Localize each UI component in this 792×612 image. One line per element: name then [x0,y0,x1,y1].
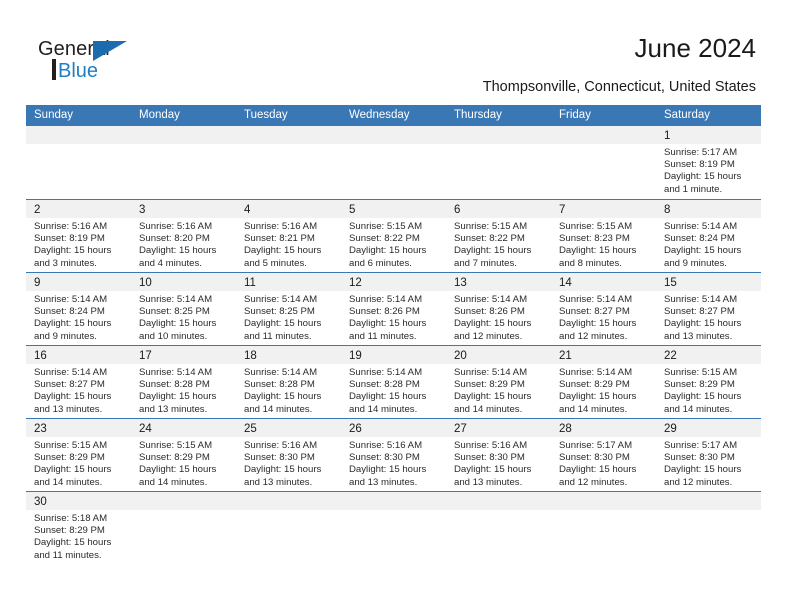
calendar-day-cell-empty [551,126,656,199]
sunset-text: Sunset: 8:30 PM [664,452,755,464]
day-number-band: 26 [341,419,446,437]
day-number: 5 [349,204,355,216]
day-number: 29 [664,423,677,435]
calendar-day-cell[interactable]: 22Sunrise: 5:15 AMSunset: 8:29 PMDayligh… [656,346,761,418]
day-sun-info: Sunrise: 5:15 AMSunset: 8:22 PMDaylight:… [446,218,551,270]
sunrise-text: Sunrise: 5:16 AM [349,440,440,452]
sunset-text: Sunset: 8:29 PM [454,379,545,391]
calendar-day-cell[interactable]: 8Sunrise: 5:14 AMSunset: 8:24 PMDaylight… [656,200,761,272]
day-sun-info: Sunrise: 5:15 AMSunset: 8:23 PMDaylight:… [551,218,656,270]
daylight-text: Daylight: 15 hours and 10 minutes. [139,318,230,342]
sunset-text: Sunset: 8:25 PM [139,306,230,318]
daylight-text: Daylight: 15 hours and 12 minutes. [454,318,545,342]
day-sun-info: Sunrise: 5:14 AMSunset: 8:28 PMDaylight:… [131,364,236,416]
day-sun-info: Sunrise: 5:14 AMSunset: 8:25 PMDaylight:… [131,291,236,343]
day-number-band [341,126,446,144]
calendar-day-cell-empty [656,492,761,564]
daylight-text: Daylight: 15 hours and 12 minutes. [664,464,755,488]
day-number-band: 14 [551,273,656,291]
day-number-band [341,492,446,510]
day-sun-info: Sunrise: 5:14 AMSunset: 8:27 PMDaylight:… [551,291,656,343]
day-number-band [236,492,341,510]
day-sun-info: Sunrise: 5:16 AMSunset: 8:21 PMDaylight:… [236,218,341,270]
day-number-band: 30 [26,492,131,510]
day-number: 17 [139,350,152,362]
daylight-text: Daylight: 15 hours and 13 minutes. [244,464,335,488]
sunrise-text: Sunrise: 5:14 AM [349,367,440,379]
sunrise-text: Sunrise: 5:14 AM [559,367,650,379]
day-number: 16 [34,350,47,362]
calendar-week-row: 1Sunrise: 5:17 AMSunset: 8:19 PMDaylight… [26,126,761,199]
day-number: 25 [244,423,257,435]
day-number-band: 29 [656,419,761,437]
calendar-day-cell-empty [551,492,656,564]
logo-triangle-icon [93,41,127,61]
sunset-text: Sunset: 8:30 PM [454,452,545,464]
day-number: 30 [34,496,47,508]
sunset-text: Sunset: 8:28 PM [349,379,440,391]
daylight-text: Daylight: 15 hours and 11 minutes. [244,318,335,342]
day-sun-info: Sunrise: 5:14 AMSunset: 8:27 PMDaylight:… [656,291,761,343]
day-number-band: 16 [26,346,131,364]
calendar-day-cell[interactable]: 2Sunrise: 5:16 AMSunset: 8:19 PMDaylight… [26,200,131,272]
calendar-day-cell[interactable]: 1Sunrise: 5:17 AMSunset: 8:19 PMDaylight… [656,126,761,199]
day-number-band: 6 [446,200,551,218]
calendar-day-cell[interactable]: 5Sunrise: 5:15 AMSunset: 8:22 PMDaylight… [341,200,446,272]
day-number-band [26,126,131,144]
sunset-text: Sunset: 8:27 PM [34,379,125,391]
day-number-band [551,126,656,144]
calendar-week-row: 23Sunrise: 5:15 AMSunset: 8:29 PMDayligh… [26,418,761,491]
day-number-band: 4 [236,200,341,218]
sunrise-text: Sunrise: 5:16 AM [454,440,545,452]
day-number: 22 [664,350,677,362]
daylight-text: Daylight: 15 hours and 14 minutes. [244,391,335,415]
calendar-week-row: 9Sunrise: 5:14 AMSunset: 8:24 PMDaylight… [26,272,761,345]
calendar-day-cell[interactable]: 17Sunrise: 5:14 AMSunset: 8:28 PMDayligh… [131,346,236,418]
day-number-band [656,492,761,510]
day-number: 26 [349,423,362,435]
weekday-header-monday: Monday [131,105,236,126]
sunset-text: Sunset: 8:29 PM [34,525,125,537]
day-number-band: 5 [341,200,446,218]
calendar-day-cell[interactable]: 28Sunrise: 5:17 AMSunset: 8:30 PMDayligh… [551,419,656,491]
day-number: 7 [559,204,565,216]
calendar-day-cell[interactable]: 9Sunrise: 5:14 AMSunset: 8:24 PMDaylight… [26,273,131,345]
day-number-band: 21 [551,346,656,364]
sunrise-text: Sunrise: 5:14 AM [454,367,545,379]
calendar-day-cell[interactable]: 4Sunrise: 5:16 AMSunset: 8:21 PMDaylight… [236,200,341,272]
weekday-header-row: SundayMondayTuesdayWednesdayThursdayFrid… [26,105,761,126]
calendar-day-cell[interactable]: 10Sunrise: 5:14 AMSunset: 8:25 PMDayligh… [131,273,236,345]
day-sun-info: Sunrise: 5:14 AMSunset: 8:26 PMDaylight:… [446,291,551,343]
day-sun-info: Sunrise: 5:17 AMSunset: 8:19 PMDaylight:… [656,144,761,196]
day-number-band: 19 [341,346,446,364]
daylight-text: Daylight: 15 hours and 1 minute. [664,171,755,195]
calendar-day-cell[interactable]: 12Sunrise: 5:14 AMSunset: 8:26 PMDayligh… [341,273,446,345]
sunset-text: Sunset: 8:29 PM [664,379,755,391]
sunset-text: Sunset: 8:29 PM [559,379,650,391]
sunset-text: Sunset: 8:19 PM [664,159,755,171]
calendar-day-cell[interactable]: 6Sunrise: 5:15 AMSunset: 8:22 PMDaylight… [446,200,551,272]
day-sun-info: Sunrise: 5:14 AMSunset: 8:24 PMDaylight:… [656,218,761,270]
calendar-day-cell[interactable]: 21Sunrise: 5:14 AMSunset: 8:29 PMDayligh… [551,346,656,418]
daylight-text: Daylight: 15 hours and 5 minutes. [244,245,335,269]
sunset-text: Sunset: 8:20 PM [139,233,230,245]
sunrise-text: Sunrise: 5:15 AM [664,367,755,379]
day-number: 3 [139,204,145,216]
weekday-header-thursday: Thursday [446,105,551,126]
day-number: 9 [34,277,40,289]
daylight-text: Daylight: 15 hours and 11 minutes. [349,318,440,342]
day-number-band: 22 [656,346,761,364]
day-number-band: 20 [446,346,551,364]
sunrise-text: Sunrise: 5:14 AM [34,294,125,306]
sunset-text: Sunset: 8:19 PM [34,233,125,245]
day-sun-info: Sunrise: 5:16 AMSunset: 8:30 PMDaylight:… [341,437,446,489]
page-header: General Blue June 2024 Thompsonville, Co… [0,0,792,100]
daylight-text: Daylight: 15 hours and 14 minutes. [454,391,545,415]
daylight-text: Daylight: 15 hours and 3 minutes. [34,245,125,269]
day-number: 23 [34,423,47,435]
calendar-page: General Blue June 2024 Thompsonville, Co… [0,0,792,612]
sunrise-text: Sunrise: 5:14 AM [559,294,650,306]
day-number: 2 [34,204,40,216]
day-number-band: 2 [26,200,131,218]
sunset-text: Sunset: 8:28 PM [139,379,230,391]
calendar-weeks: 1Sunrise: 5:17 AMSunset: 8:19 PMDaylight… [26,126,761,564]
daylight-text: Daylight: 15 hours and 14 minutes. [139,464,230,488]
day-number: 14 [559,277,572,289]
sunrise-text: Sunrise: 5:14 AM [664,294,755,306]
daylight-text: Daylight: 15 hours and 6 minutes. [349,245,440,269]
day-number: 12 [349,277,362,289]
day-number-band: 15 [656,273,761,291]
sunset-text: Sunset: 8:24 PM [664,233,755,245]
day-number-band: 25 [236,419,341,437]
day-number-band: 9 [26,273,131,291]
daylight-text: Daylight: 15 hours and 13 minutes. [454,464,545,488]
daylight-text: Daylight: 15 hours and 7 minutes. [454,245,545,269]
calendar-day-cell[interactable]: 20Sunrise: 5:14 AMSunset: 8:29 PMDayligh… [446,346,551,418]
calendar-day-cell[interactable]: 16Sunrise: 5:14 AMSunset: 8:27 PMDayligh… [26,346,131,418]
calendar-day-cell[interactable]: 30Sunrise: 5:18 AMSunset: 8:29 PMDayligh… [26,492,131,564]
day-sun-info: Sunrise: 5:18 AMSunset: 8:29 PMDaylight:… [26,510,131,562]
calendar-day-cell[interactable]: 19Sunrise: 5:14 AMSunset: 8:28 PMDayligh… [341,346,446,418]
calendar-day-cell[interactable]: 3Sunrise: 5:16 AMSunset: 8:20 PMDaylight… [131,200,236,272]
day-sun-info: Sunrise: 5:15 AMSunset: 8:29 PMDaylight:… [131,437,236,489]
day-sun-info: Sunrise: 5:14 AMSunset: 8:28 PMDaylight:… [341,364,446,416]
calendar-day-cell[interactable]: 24Sunrise: 5:15 AMSunset: 8:29 PMDayligh… [131,419,236,491]
sunrise-text: Sunrise: 5:16 AM [34,221,125,233]
day-number: 13 [454,277,467,289]
day-sun-info: Sunrise: 5:17 AMSunset: 8:30 PMDaylight:… [551,437,656,489]
day-number: 18 [244,350,257,362]
daylight-text: Daylight: 15 hours and 13 minutes. [139,391,230,415]
day-number-band: 17 [131,346,236,364]
logo-bar-decoration [52,59,56,80]
sunset-text: Sunset: 8:26 PM [454,306,545,318]
day-sun-info: Sunrise: 5:16 AMSunset: 8:30 PMDaylight:… [236,437,341,489]
day-number: 1 [664,130,670,142]
calendar-day-cell-empty [26,126,131,199]
calendar-day-cell[interactable]: 26Sunrise: 5:16 AMSunset: 8:30 PMDayligh… [341,419,446,491]
calendar-day-cell[interactable]: 27Sunrise: 5:16 AMSunset: 8:30 PMDayligh… [446,419,551,491]
day-sun-info: Sunrise: 5:16 AMSunset: 8:20 PMDaylight:… [131,218,236,270]
sunrise-text: Sunrise: 5:17 AM [559,440,650,452]
calendar-day-cell[interactable]: 23Sunrise: 5:15 AMSunset: 8:29 PMDayligh… [26,419,131,491]
calendar-day-cell[interactable]: 7Sunrise: 5:15 AMSunset: 8:23 PMDaylight… [551,200,656,272]
sunrise-text: Sunrise: 5:16 AM [244,221,335,233]
calendar-day-cell-empty [341,126,446,199]
daylight-text: Daylight: 15 hours and 12 minutes. [559,318,650,342]
day-number-band: 27 [446,419,551,437]
sunset-text: Sunset: 8:22 PM [349,233,440,245]
day-sun-info: Sunrise: 5:15 AMSunset: 8:22 PMDaylight:… [341,218,446,270]
calendar-day-cell[interactable]: 13Sunrise: 5:14 AMSunset: 8:26 PMDayligh… [446,273,551,345]
sunset-text: Sunset: 8:27 PM [559,306,650,318]
daylight-text: Daylight: 15 hours and 9 minutes. [664,245,755,269]
sunrise-text: Sunrise: 5:17 AM [664,440,755,452]
calendar-day-cell-empty [341,492,446,564]
daylight-text: Daylight: 15 hours and 14 minutes. [664,391,755,415]
sunrise-text: Sunrise: 5:17 AM [664,147,755,159]
calendar-week-row: 30Sunrise: 5:18 AMSunset: 8:29 PMDayligh… [26,491,761,564]
daylight-text: Daylight: 15 hours and 9 minutes. [34,318,125,342]
day-sun-info: Sunrise: 5:15 AMSunset: 8:29 PMDaylight:… [656,364,761,416]
day-number: 4 [244,204,250,216]
calendar-week-row: 2Sunrise: 5:16 AMSunset: 8:19 PMDaylight… [26,199,761,272]
sunrise-text: Sunrise: 5:16 AM [244,440,335,452]
day-number: 24 [139,423,152,435]
sunset-text: Sunset: 8:29 PM [34,452,125,464]
daylight-text: Daylight: 15 hours and 11 minutes. [34,537,125,561]
daylight-text: Daylight: 15 hours and 4 minutes. [139,245,230,269]
sunset-text: Sunset: 8:30 PM [244,452,335,464]
day-number: 10 [139,277,152,289]
calendar-day-cell[interactable]: 18Sunrise: 5:14 AMSunset: 8:28 PMDayligh… [236,346,341,418]
daylight-text: Daylight: 15 hours and 14 minutes. [34,464,125,488]
page-subtitle-location: Thompsonville, Connecticut, United State… [483,79,756,95]
sunrise-text: Sunrise: 5:15 AM [34,440,125,452]
sunset-text: Sunset: 8:27 PM [664,306,755,318]
weekday-header-tuesday: Tuesday [236,105,341,126]
day-sun-info: Sunrise: 5:14 AMSunset: 8:27 PMDaylight:… [26,364,131,416]
day-sun-info: Sunrise: 5:14 AMSunset: 8:26 PMDaylight:… [341,291,446,343]
daylight-text: Daylight: 15 hours and 14 minutes. [349,391,440,415]
day-number-band: 10 [131,273,236,291]
day-sun-info: Sunrise: 5:14 AMSunset: 8:28 PMDaylight:… [236,364,341,416]
sunset-text: Sunset: 8:21 PM [244,233,335,245]
weekday-header-saturday: Saturday [656,105,761,126]
calendar-day-cell[interactable]: 25Sunrise: 5:16 AMSunset: 8:30 PMDayligh… [236,419,341,491]
daylight-text: Daylight: 15 hours and 13 minutes. [349,464,440,488]
sunrise-text: Sunrise: 5:15 AM [139,440,230,452]
day-number: 27 [454,423,467,435]
sunrise-text: Sunrise: 5:15 AM [349,221,440,233]
day-number-band [446,126,551,144]
page-title: June 2024 [635,33,756,64]
day-sun-info: Sunrise: 5:14 AMSunset: 8:29 PMDaylight:… [551,364,656,416]
sunset-text: Sunset: 8:30 PM [559,452,650,464]
day-number-band [551,492,656,510]
sunset-text: Sunset: 8:28 PM [244,379,335,391]
day-number-band: 11 [236,273,341,291]
day-number: 11 [244,277,256,289]
day-sun-info: Sunrise: 5:16 AMSunset: 8:19 PMDaylight:… [26,218,131,270]
calendar-grid: SundayMondayTuesdayWednesdayThursdayFrid… [26,105,761,564]
sunset-text: Sunset: 8:25 PM [244,306,335,318]
calendar-day-cell-empty [446,126,551,199]
daylight-text: Daylight: 15 hours and 8 minutes. [559,245,650,269]
day-sun-info: Sunrise: 5:14 AMSunset: 8:24 PMDaylight:… [26,291,131,343]
day-sun-info: Sunrise: 5:16 AMSunset: 8:30 PMDaylight:… [446,437,551,489]
sunset-text: Sunset: 8:23 PM [559,233,650,245]
sunset-text: Sunset: 8:30 PM [349,452,440,464]
calendar-week-row: 16Sunrise: 5:14 AMSunset: 8:27 PMDayligh… [26,345,761,418]
calendar-day-cell[interactable]: 14Sunrise: 5:14 AMSunset: 8:27 PMDayligh… [551,273,656,345]
calendar-day-cell-empty [446,492,551,564]
sunrise-text: Sunrise: 5:15 AM [559,221,650,233]
logo-text-blue: Blue [58,60,98,83]
day-sun-info: Sunrise: 5:15 AMSunset: 8:29 PMDaylight:… [26,437,131,489]
daylight-text: Daylight: 15 hours and 12 minutes. [559,464,650,488]
day-number-band [236,126,341,144]
calendar-day-cell[interactable]: 15Sunrise: 5:14 AMSunset: 8:27 PMDayligh… [656,273,761,345]
day-number-band: 23 [26,419,131,437]
weekday-header-friday: Friday [551,105,656,126]
calendar-day-cell[interactable]: 11Sunrise: 5:14 AMSunset: 8:25 PMDayligh… [236,273,341,345]
day-number-band: 1 [656,126,761,144]
day-number: 21 [559,350,572,362]
daylight-text: Daylight: 15 hours and 14 minutes. [559,391,650,415]
sunrise-text: Sunrise: 5:14 AM [454,294,545,306]
day-number-band [446,492,551,510]
weekday-header-wednesday: Wednesday [341,105,446,126]
day-sun-info: Sunrise: 5:17 AMSunset: 8:30 PMDaylight:… [656,437,761,489]
day-number-band: 28 [551,419,656,437]
day-number-band: 12 [341,273,446,291]
sunset-text: Sunset: 8:29 PM [139,452,230,464]
day-number-band [131,126,236,144]
calendar-day-cell-empty [236,492,341,564]
day-number-band: 3 [131,200,236,218]
sunset-text: Sunset: 8:24 PM [34,306,125,318]
day-number: 15 [664,277,677,289]
day-sun-info: Sunrise: 5:14 AMSunset: 8:25 PMDaylight:… [236,291,341,343]
general-blue-logo[interactable]: General Blue [38,38,168,88]
sunrise-text: Sunrise: 5:15 AM [454,221,545,233]
day-number: 28 [559,423,572,435]
sunrise-text: Sunrise: 5:16 AM [139,221,230,233]
day-number: 6 [454,204,460,216]
daylight-text: Daylight: 15 hours and 13 minutes. [34,391,125,415]
day-number-band: 24 [131,419,236,437]
sunrise-text: Sunrise: 5:18 AM [34,513,125,525]
daylight-text: Daylight: 15 hours and 13 minutes. [664,318,755,342]
sunrise-text: Sunrise: 5:14 AM [664,221,755,233]
sunrise-text: Sunrise: 5:14 AM [139,294,230,306]
calendar-day-cell[interactable]: 29Sunrise: 5:17 AMSunset: 8:30 PMDayligh… [656,419,761,491]
day-number: 19 [349,350,362,362]
day-number-band: 13 [446,273,551,291]
day-sun-info: Sunrise: 5:14 AMSunset: 8:29 PMDaylight:… [446,364,551,416]
day-number: 20 [454,350,467,362]
sunrise-text: Sunrise: 5:14 AM [349,294,440,306]
sunset-text: Sunset: 8:22 PM [454,233,545,245]
weekday-header-sunday: Sunday [26,105,131,126]
day-number-band: 8 [656,200,761,218]
sunrise-text: Sunrise: 5:14 AM [244,367,335,379]
day-number-band: 7 [551,200,656,218]
sunrise-text: Sunrise: 5:14 AM [34,367,125,379]
calendar-day-cell-empty [236,126,341,199]
day-number: 8 [664,204,670,216]
sunrise-text: Sunrise: 5:14 AM [139,367,230,379]
day-number-band: 18 [236,346,341,364]
calendar-day-cell-empty [131,126,236,199]
calendar-day-cell-empty [131,492,236,564]
sunrise-text: Sunrise: 5:14 AM [244,294,335,306]
sunset-text: Sunset: 8:26 PM [349,306,440,318]
day-number-band [131,492,236,510]
